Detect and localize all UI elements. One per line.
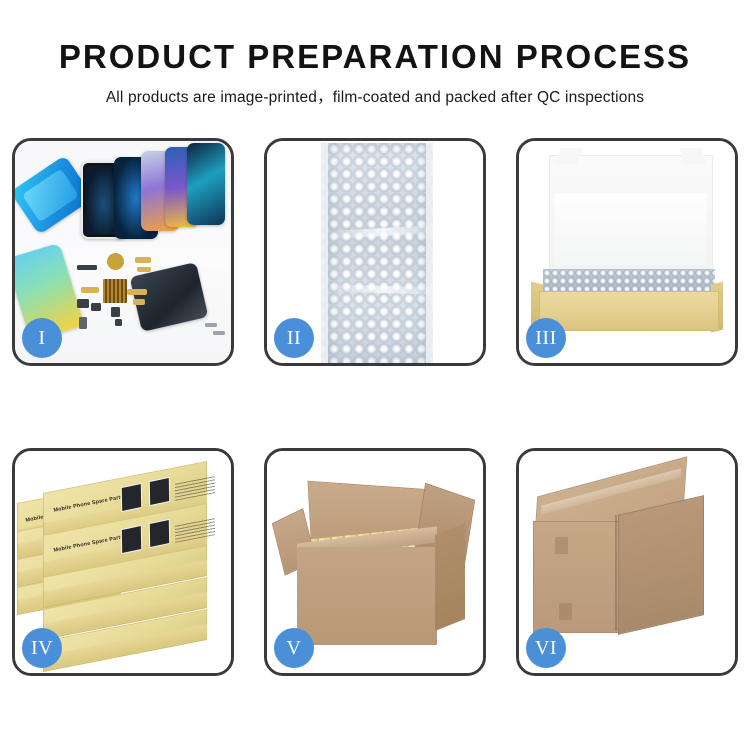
step-badge-4: IV — [22, 628, 62, 668]
step-panel-4: Mobile Phone Spare Parts — [12, 448, 234, 676]
screw-icon — [115, 319, 122, 326]
foam-sheet-icon — [555, 193, 707, 267]
phone-display-teal-icon — [187, 143, 225, 225]
bubble-wrap-icon — [321, 143, 433, 363]
carton-corner-seam-icon — [615, 515, 617, 631]
step-badge-2: II — [274, 318, 314, 358]
header: PRODUCT PREPARATION PROCESS All products… — [0, 0, 750, 107]
process-step-grid: I II III — [12, 138, 738, 676]
phone-back-housing-icon — [130, 262, 209, 332]
box-screen-art-right — [149, 519, 170, 548]
screwdriver-icon — [205, 323, 217, 327]
box-screen-art-left — [121, 483, 142, 512]
earpiece-mesh-icon — [77, 265, 97, 270]
vibrator-cable-icon — [81, 287, 99, 293]
step-badge-3: III — [526, 318, 566, 358]
box-screen-art-left — [121, 525, 142, 554]
step-badge-6: VI — [526, 628, 566, 668]
page-subtitle: All products are image-printed，film-coat… — [0, 85, 750, 107]
carton-side-face-icon — [618, 495, 704, 635]
volume-flex-icon — [133, 299, 145, 305]
carton-tab-upper-icon — [555, 537, 568, 554]
carton-side-face-icon — [435, 523, 465, 631]
step-panel-2: II — [264, 138, 486, 366]
ic-chip-icon — [103, 279, 127, 303]
carton-tab-lower-icon — [559, 603, 572, 620]
sim-tray-icon — [79, 317, 87, 329]
camera-module-icon — [77, 299, 89, 308]
step-badge-5: V — [274, 628, 314, 668]
stacked-box-front-5 — [43, 625, 207, 673]
step-badge-1: I — [22, 318, 62, 358]
product-preparation-infographic: PRODUCT PREPARATION PROCESS All products… — [0, 0, 750, 750]
flex-cable-icon — [135, 257, 151, 263]
step-panel-5: V — [264, 448, 486, 676]
carton-front-face-icon — [533, 521, 619, 633]
box-screen-art-right — [149, 477, 170, 506]
page-title: PRODUCT PREPARATION PROCESS — [0, 38, 750, 76]
power-flex-icon — [127, 289, 147, 295]
flex-cable-small-icon — [137, 267, 151, 272]
battery-connector-icon — [111, 307, 120, 317]
wireless-coil-icon — [107, 253, 124, 270]
carton-front-face-icon — [297, 547, 437, 645]
step-panel-6: VI — [516, 448, 738, 676]
step-panel-3: III — [516, 138, 738, 366]
box-front-wall-icon — [539, 291, 719, 331]
speaker-module-icon — [91, 303, 101, 311]
step-panel-1: I — [12, 138, 234, 366]
tweezers-icon — [213, 331, 225, 335]
